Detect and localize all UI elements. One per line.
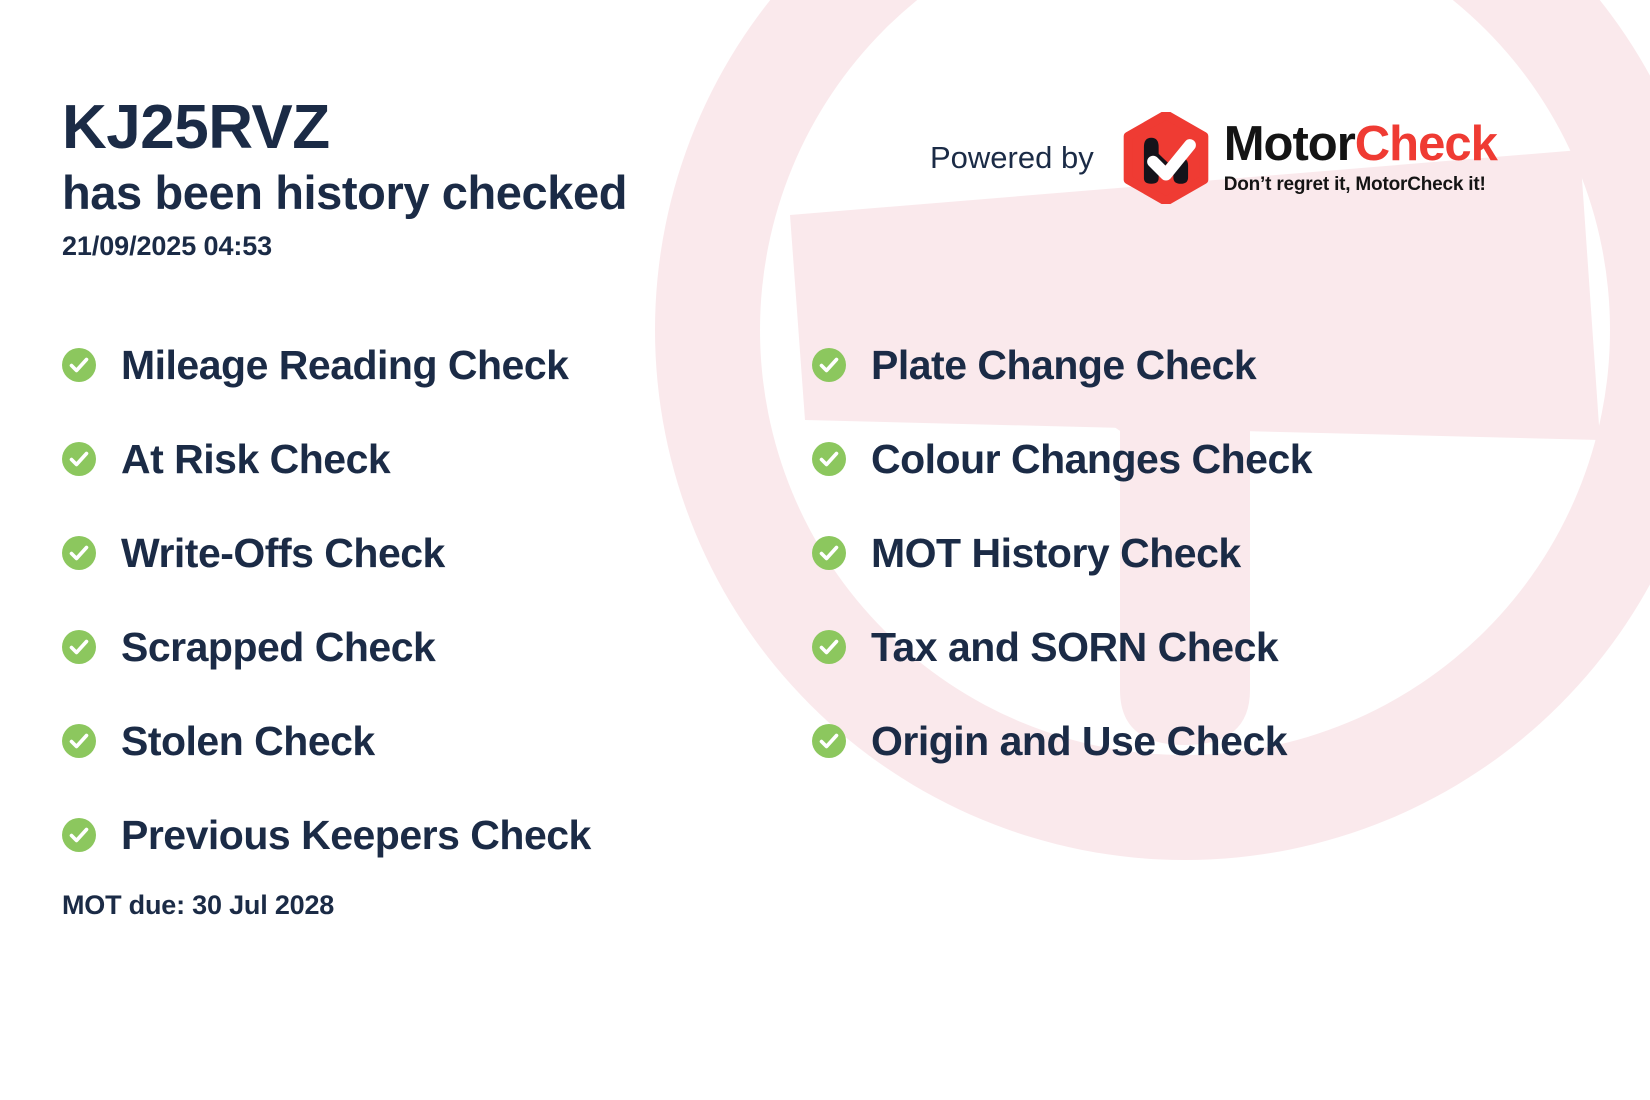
check-circle-icon (812, 724, 846, 758)
wordmark-check: Check (1355, 117, 1497, 171)
check-item: Write-Offs Check (62, 506, 812, 600)
check-circle-icon (812, 442, 846, 476)
brand-tagline: Don’t regret it, MotorCheck it! (1224, 174, 1497, 196)
check-item: Plate Change Check (812, 318, 1512, 412)
check-circle-icon (62, 724, 96, 758)
powered-by-block: Powered by MotorCheck Don’t regret it, M… (930, 112, 1497, 204)
check-item-label: Origin and Use Check (871, 721, 1287, 762)
checks-section: Mileage Reading Check At Risk Check Writ… (62, 318, 1592, 882)
motorcheck-logo[interactable]: MotorCheck Don’t regret it, MotorCheck i… (1120, 112, 1497, 204)
checks-left-column: Mileage Reading Check At Risk Check Writ… (62, 318, 812, 882)
check-item: Origin and Use Check (812, 694, 1512, 788)
powered-by-label: Powered by (930, 140, 1094, 176)
check-item-label: Plate Change Check (871, 345, 1256, 386)
check-item: MOT History Check (812, 506, 1512, 600)
check-item-label: Write-Offs Check (121, 533, 445, 574)
motorcheck-wordmark-group: MotorCheck Don’t regret it, MotorCheck i… (1224, 120, 1497, 196)
check-circle-icon (62, 536, 96, 570)
registration-plate: KJ25RVZ (62, 96, 627, 159)
check-item-label: Previous Keepers Check (121, 815, 591, 856)
check-item: Tax and SORN Check (812, 600, 1512, 694)
check-item: At Risk Check (62, 412, 812, 506)
check-item: Scrapped Check (62, 600, 812, 694)
check-circle-icon (812, 348, 846, 382)
check-item-label: Mileage Reading Check (121, 345, 568, 386)
check-circle-icon (62, 630, 96, 664)
check-circle-icon (62, 818, 96, 852)
check-circle-icon (812, 536, 846, 570)
check-circle-icon (812, 630, 846, 664)
motorcheck-wordmark: MotorCheck (1224, 120, 1497, 169)
check-item: Previous Keepers Check (62, 788, 812, 882)
check-circle-icon (62, 442, 96, 476)
check-timestamp: 21/09/2025 04:53 (62, 231, 627, 262)
check-item-label: Tax and SORN Check (871, 627, 1278, 668)
check-item: Mileage Reading Check (62, 318, 812, 412)
page-title: has been history checked (62, 165, 627, 220)
check-item: Colour Changes Check (812, 412, 1512, 506)
vehicle-history-check-card: KJ25RVZ has been history checked 21/09/2… (0, 0, 1650, 1100)
card-header: KJ25RVZ has been history checked 21/09/2… (62, 96, 627, 262)
wordmark-motor: Motor (1224, 117, 1355, 171)
check-item: Stolen Check (62, 694, 812, 788)
card-footer: MOT due: 30 Jul 2028 (62, 890, 334, 921)
motorcheck-hexagon-icon (1120, 112, 1212, 204)
check-item-label: Scrapped Check (121, 627, 435, 668)
check-item-label: Stolen Check (121, 721, 375, 762)
check-circle-icon (62, 348, 96, 382)
check-item-label: At Risk Check (121, 439, 390, 480)
check-item-label: MOT History Check (871, 533, 1241, 574)
mot-due-text: MOT due: 30 Jul 2028 (62, 890, 334, 921)
checks-right-column: Plate Change Check Colour Changes Check … (812, 318, 1512, 882)
check-item-label: Colour Changes Check (871, 439, 1312, 480)
